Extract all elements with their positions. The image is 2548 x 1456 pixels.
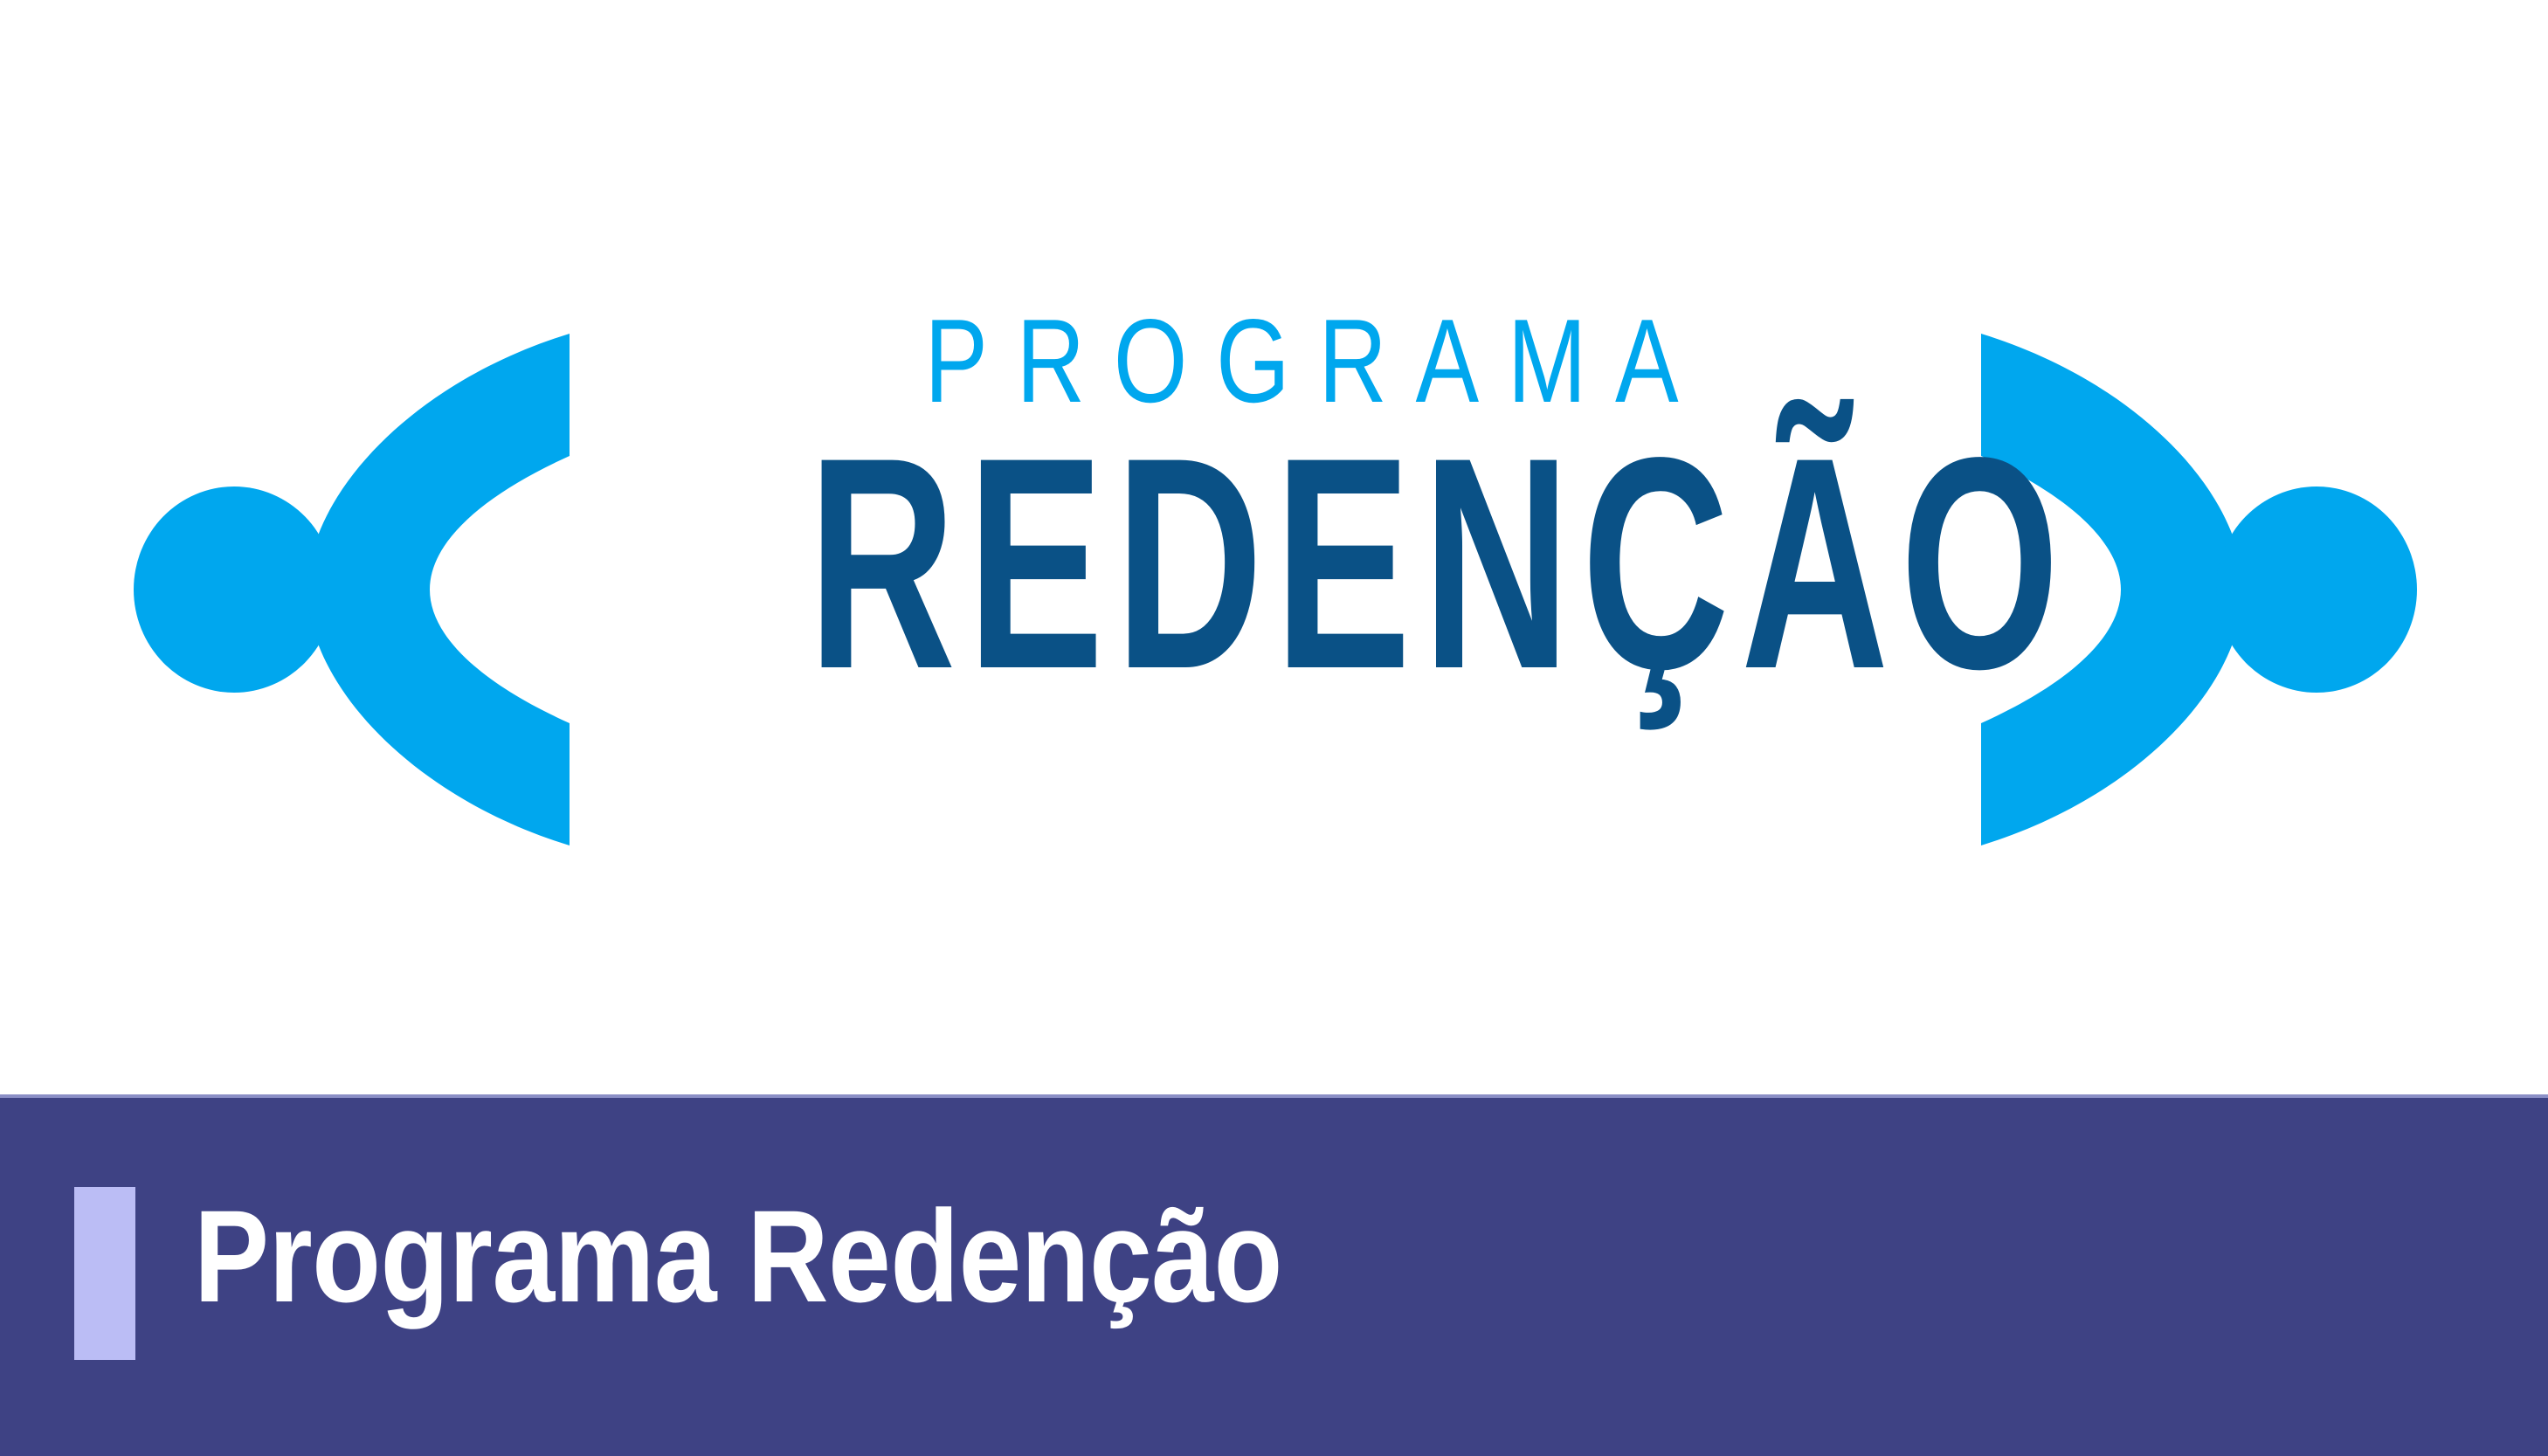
left-open-bracket-arc-icon — [307, 334, 570, 845]
caption-accent-bar — [74, 1187, 135, 1360]
programa-redencao-logo — [122, 288, 2428, 891]
right-circle-icon — [2216, 486, 2417, 693]
caption-title: Programa Redenção — [194, 1175, 1282, 1339]
logo-area: PROGRAMA REDENÇÃO — [0, 0, 2548, 1094]
left-circle-icon — [134, 486, 335, 693]
caption-band: Programa Redenção — [0, 1094, 2548, 1456]
slide-root: PROGRAMA REDENÇÃO Programa Redenção — [0, 0, 2548, 1456]
right-close-bracket-arc-icon — [1981, 334, 2243, 845]
logo-ornaments-svg — [122, 288, 2428, 891]
